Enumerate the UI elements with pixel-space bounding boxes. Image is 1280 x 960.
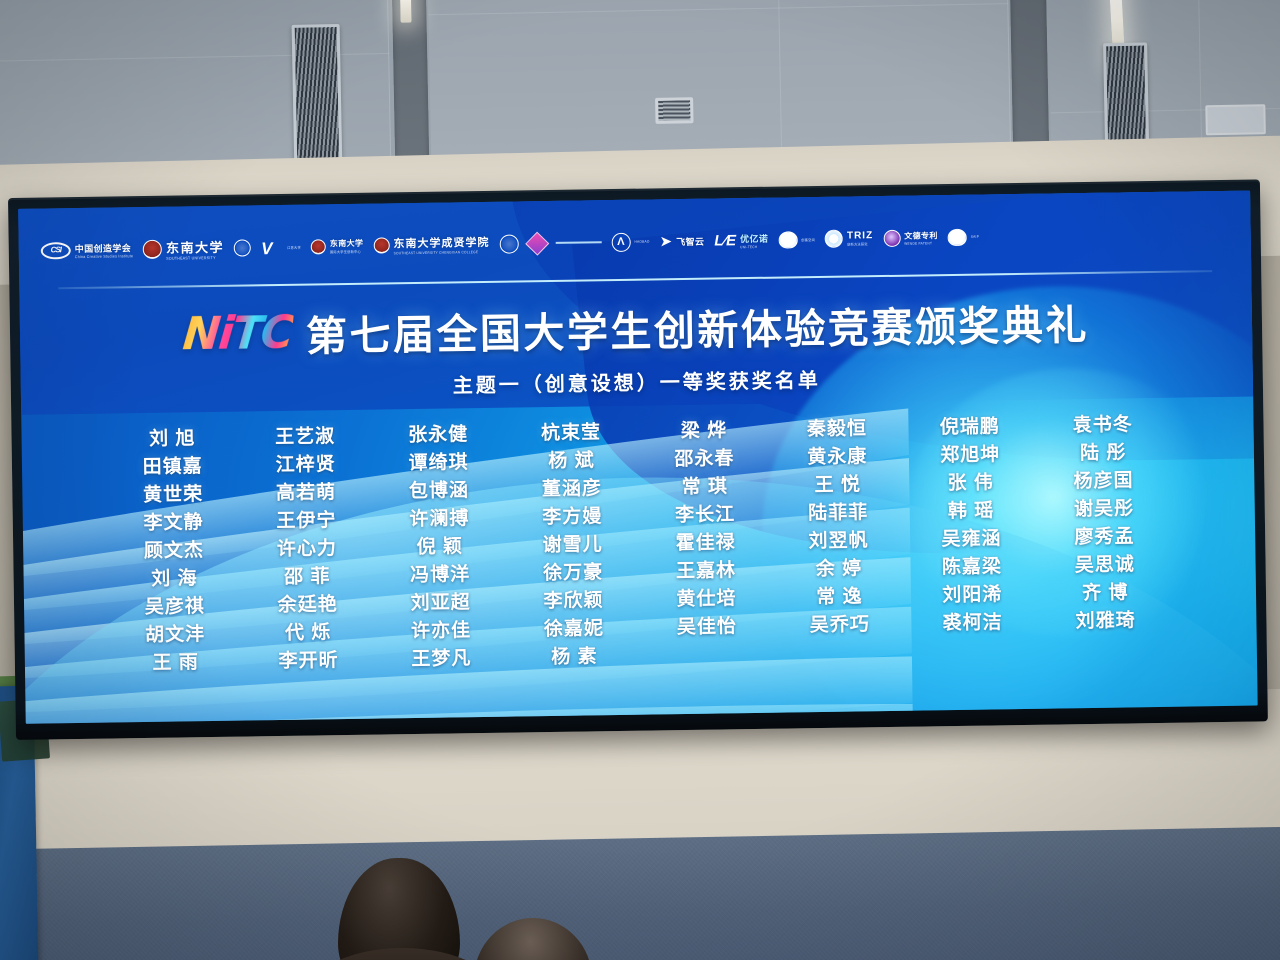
winner-name: 许亦佳 (376, 617, 505, 647)
winner-name: 王伊宁 (242, 507, 371, 537)
winner-name: 顾文杰 (109, 536, 238, 566)
dash-line-icon (555, 241, 601, 244)
sponsor-name-en: SOUTHEAST UNIVERSITY (166, 255, 224, 260)
winner-name: 杨 素 (510, 643, 639, 673)
wende-icon (883, 229, 900, 246)
v-icon: V (261, 240, 283, 255)
winner-name: 许澜搏 (375, 505, 504, 535)
chengxian-shield-icon (373, 238, 389, 254)
sponsor-logo-jsu: V 江苏大学 (261, 239, 301, 255)
winner-name: 徐万豪 (508, 559, 637, 589)
page-title: 第七届全国大学生创新体验竞赛颁奖典礼 (305, 291, 1089, 363)
winner-name: 许心力 (242, 535, 371, 565)
winner-name: 霍佳禄 (641, 529, 770, 559)
winner-name: 高若萌 (241, 479, 370, 509)
winner-name: 王梦凡 (377, 645, 506, 675)
sponsor-name-en: 江苏大学 (287, 244, 301, 250)
winner-name: 刘雅琦 (1041, 607, 1170, 637)
winner-column-2: 王艺淑江梓贤高若萌王伊宁许心力邵 菲余廷艳代 烁李开昕 (241, 423, 374, 677)
winner-name: 刘翌帆 (774, 527, 903, 557)
winner-name: 吴彦祺 (110, 592, 239, 622)
ceiling-light (399, 0, 411, 23)
sponsor-name-en: SAIP (971, 235, 979, 240)
winner-name: 吴乔巧 (775, 611, 904, 641)
winner-name: 齐 博 (1041, 579, 1170, 609)
sponsor-logo-ring-1 (234, 239, 251, 256)
winner-name: 刘亚超 (376, 589, 505, 619)
winner-name: 陈嘉梁 (907, 553, 1036, 583)
winner-name: 董涵彦 (507, 475, 636, 505)
winner-column-4: 杭束莹杨 斌董涵彦李方嫚谢雪儿徐万豪李欣颖徐嘉妮杨 素 (506, 419, 639, 673)
sponsor-logo-chengxian: 东南大学成贤学院 SOUTHEAST UNIVERSITY CHENGXIAN … (373, 234, 489, 256)
le-icon: L∕E (714, 233, 736, 248)
winner-name: 倪 颖 (375, 533, 504, 563)
hvac-vent (1103, 42, 1149, 153)
ring-icon (499, 234, 518, 253)
winner-name: 包博涵 (374, 477, 503, 507)
winner-name: 余 婷 (774, 555, 903, 585)
nitc-brand-logo: NiTC (181, 312, 293, 354)
winner-name: 李方嫚 (508, 503, 637, 533)
winner-name: 李开昕 (244, 647, 373, 677)
winner-name: 江梓贤 (241, 451, 370, 481)
winner-column-6: 秦毅恒黄永康王 悦陆菲菲刘翌帆余 婷常 逸吴乔巧 (772, 415, 905, 669)
winner-name: 王 悦 (773, 471, 902, 501)
winner-name: 李文静 (109, 509, 238, 539)
triz-icon (825, 230, 843, 248)
sponsor-logo-triz: TRIZ 创新方法研究 (825, 229, 873, 248)
winner-name: 冯博洋 (376, 561, 505, 591)
circle-a-icon: Λ (611, 232, 630, 251)
winner-name: 裘柯洁 (908, 609, 1037, 639)
led-video-wall: CSI 中国创造学会 China Creative Studies Instit… (8, 179, 1268, 740)
photo-scene: CSI 中国创造学会 China Creative Studies Instit… (0, 0, 1280, 960)
winner-name: 倪瑞鹏 (905, 413, 1034, 443)
stage-floor (0, 826, 1280, 960)
diamond-icon (525, 231, 549, 255)
winner-name: 袁书冬 (1038, 411, 1167, 441)
winner-name: 杨 斌 (507, 447, 636, 477)
winner-name: 邵 菲 (243, 563, 372, 593)
sponsor-name-en: WENDE PATENT (904, 241, 938, 246)
sponsor-name-cn: 飞智云 (676, 234, 704, 247)
winner-column-5: 梁 烨邵永春常 琪李长江霍佳禄王嘉林黄仕培吴佳怡 (639, 417, 772, 671)
winner-name: 黄仕培 (642, 585, 771, 615)
sponsor-logo-seu-innovation: 东南大学 国际大学生创新中心 (311, 238, 364, 255)
sponsor-name-cn: 优亿诺 (740, 231, 768, 244)
winner-name-grid: 刘 旭田镇嘉黄世荣李文静顾文杰刘 海吴彦祺胡文沣王 雨王艺淑江梓贤高若萌王伊宁许… (108, 411, 1171, 679)
winner-column-7: 倪瑞鹏郑旭坤张 伟韩 瑶吴雍涵陈嘉梁刘阳浠裘柯洁 (905, 413, 1038, 667)
winner-name: 吴佳怡 (642, 613, 771, 643)
hvac-vent-small (655, 97, 693, 124)
saip-icon (948, 229, 967, 246)
winner-name: 王 雨 (111, 648, 240, 678)
winner-name: 杭束莹 (506, 419, 635, 449)
winner-name: 徐嘉妮 (509, 615, 638, 645)
winner-name: 韩 瑶 (906, 497, 1035, 527)
sponsor-logo-maker: 创客空间 (778, 231, 815, 249)
screen-bezel: CSI 中国创造学会 China Creative Studies Instit… (8, 179, 1268, 740)
sponsor-logo-diamond (528, 235, 545, 252)
winner-name: 陆 彤 (1039, 439, 1168, 469)
sponsor-name-en: UNI-TECH (740, 244, 768, 249)
sponsor-logo-wende: 文德专利 WENDE PATENT (883, 229, 938, 247)
winner-column-3: 张永健谭绮琪包博涵许澜搏倪 颖冯博洋刘亚超许亦佳王梦凡 (373, 421, 506, 675)
sponsor-name-en: China Creative Studies Institute (75, 254, 133, 259)
winner-name: 胡文沣 (111, 620, 240, 650)
winner-name: 常 逸 (775, 583, 904, 613)
winner-name: 常 琪 (640, 473, 769, 503)
winner-name: 谢雪儿 (508, 531, 637, 561)
sponsor-logo-ring-2 (499, 234, 518, 253)
sponsor-name-en: 创客空间 (801, 237, 815, 243)
winner-name: 田镇嘉 (108, 453, 237, 483)
winner-name: 李长江 (641, 501, 770, 531)
winner-name: 张 伟 (906, 469, 1035, 499)
winner-column-1: 刘 旭田镇嘉黄世荣李文静顾文杰刘 海吴彦祺胡文沣王 雨 (108, 425, 241, 679)
winner-name: 杨彦国 (1039, 467, 1168, 497)
sponsor-name-en: 创新方法研究 (847, 241, 873, 247)
sponsor-name-cn: 东南大学 (166, 237, 224, 257)
sponsor-name-cn: 文德专利 (904, 230, 938, 241)
winner-name: 黄世荣 (108, 481, 237, 511)
sponsor-logo-younuo: L∕E 优亿诺 UNI-TECH (714, 231, 768, 249)
winner-name: 李欣颖 (509, 587, 638, 617)
winner-name: 秦毅恒 (772, 415, 901, 445)
sponsor-name-cn: 中国创造学会 (75, 241, 134, 255)
winner-name: 谢吴彤 (1039, 495, 1168, 525)
arrow-icon: ➤ (659, 234, 672, 249)
csi-ellipse-icon: CSI (41, 242, 71, 259)
winner-name: 梁 烨 (639, 417, 768, 447)
winner-name: 陆菲菲 (773, 499, 902, 529)
winner-name: 吴雍涵 (907, 525, 1036, 555)
winner-name: 郑旭坤 (906, 441, 1035, 471)
winner-name: 张永健 (373, 421, 502, 451)
winner-name: 廖秀孟 (1040, 523, 1169, 553)
sponsor-divider-dash (555, 241, 601, 244)
winner-name: 黄永康 (773, 443, 902, 473)
winner-name: 余廷艳 (243, 591, 372, 621)
winner-name: 谭绮琪 (374, 449, 503, 479)
ceiling-access-panel (1205, 104, 1266, 135)
sponsor-name-en: SOUTHEAST UNIVERSITY CHENGXIAN COLLEGE (394, 250, 490, 256)
sponsor-logo-saip: SAIP (948, 228, 980, 245)
sponsor-logo-feizhiyun: ➤ 飞智云 (659, 233, 704, 249)
winner-name: 王嘉林 (641, 557, 770, 587)
seu-shield-icon (143, 239, 162, 258)
winner-name: 吴思诚 (1040, 551, 1169, 581)
winner-name: 代 烁 (243, 619, 372, 649)
sponsor-name-en: HAOBAO (634, 240, 649, 245)
sponsor-logo-seu: 东南大学 SOUTHEAST UNIVERSITY (143, 237, 224, 261)
sponsor-name-en: 国际大学生创新中心 (330, 249, 364, 255)
ring-icon (234, 239, 251, 256)
sponsor-logo-csi: CSI 中国创造学会 China Creative Studies Instit… (41, 241, 134, 259)
winner-name: 邵永春 (640, 445, 769, 475)
screen-content: CSI 中国创造学会 China Creative Studies Instit… (18, 191, 1258, 724)
winner-column-8: 袁书冬陆 彤杨彦国谢吴彤廖秀孟吴思诚齐 博刘雅琦 (1038, 411, 1171, 665)
hvac-vent (292, 24, 343, 173)
seu-shield-icon (311, 239, 326, 254)
sponsor-logo-haobao: Λ HAOBAO (611, 232, 649, 252)
panda-icon (778, 231, 797, 248)
winner-name: 刘 海 (110, 564, 239, 594)
winner-name: 刘 旭 (108, 425, 237, 455)
winner-name: 刘阳浠 (908, 581, 1037, 611)
winner-name: 王艺淑 (241, 423, 370, 453)
